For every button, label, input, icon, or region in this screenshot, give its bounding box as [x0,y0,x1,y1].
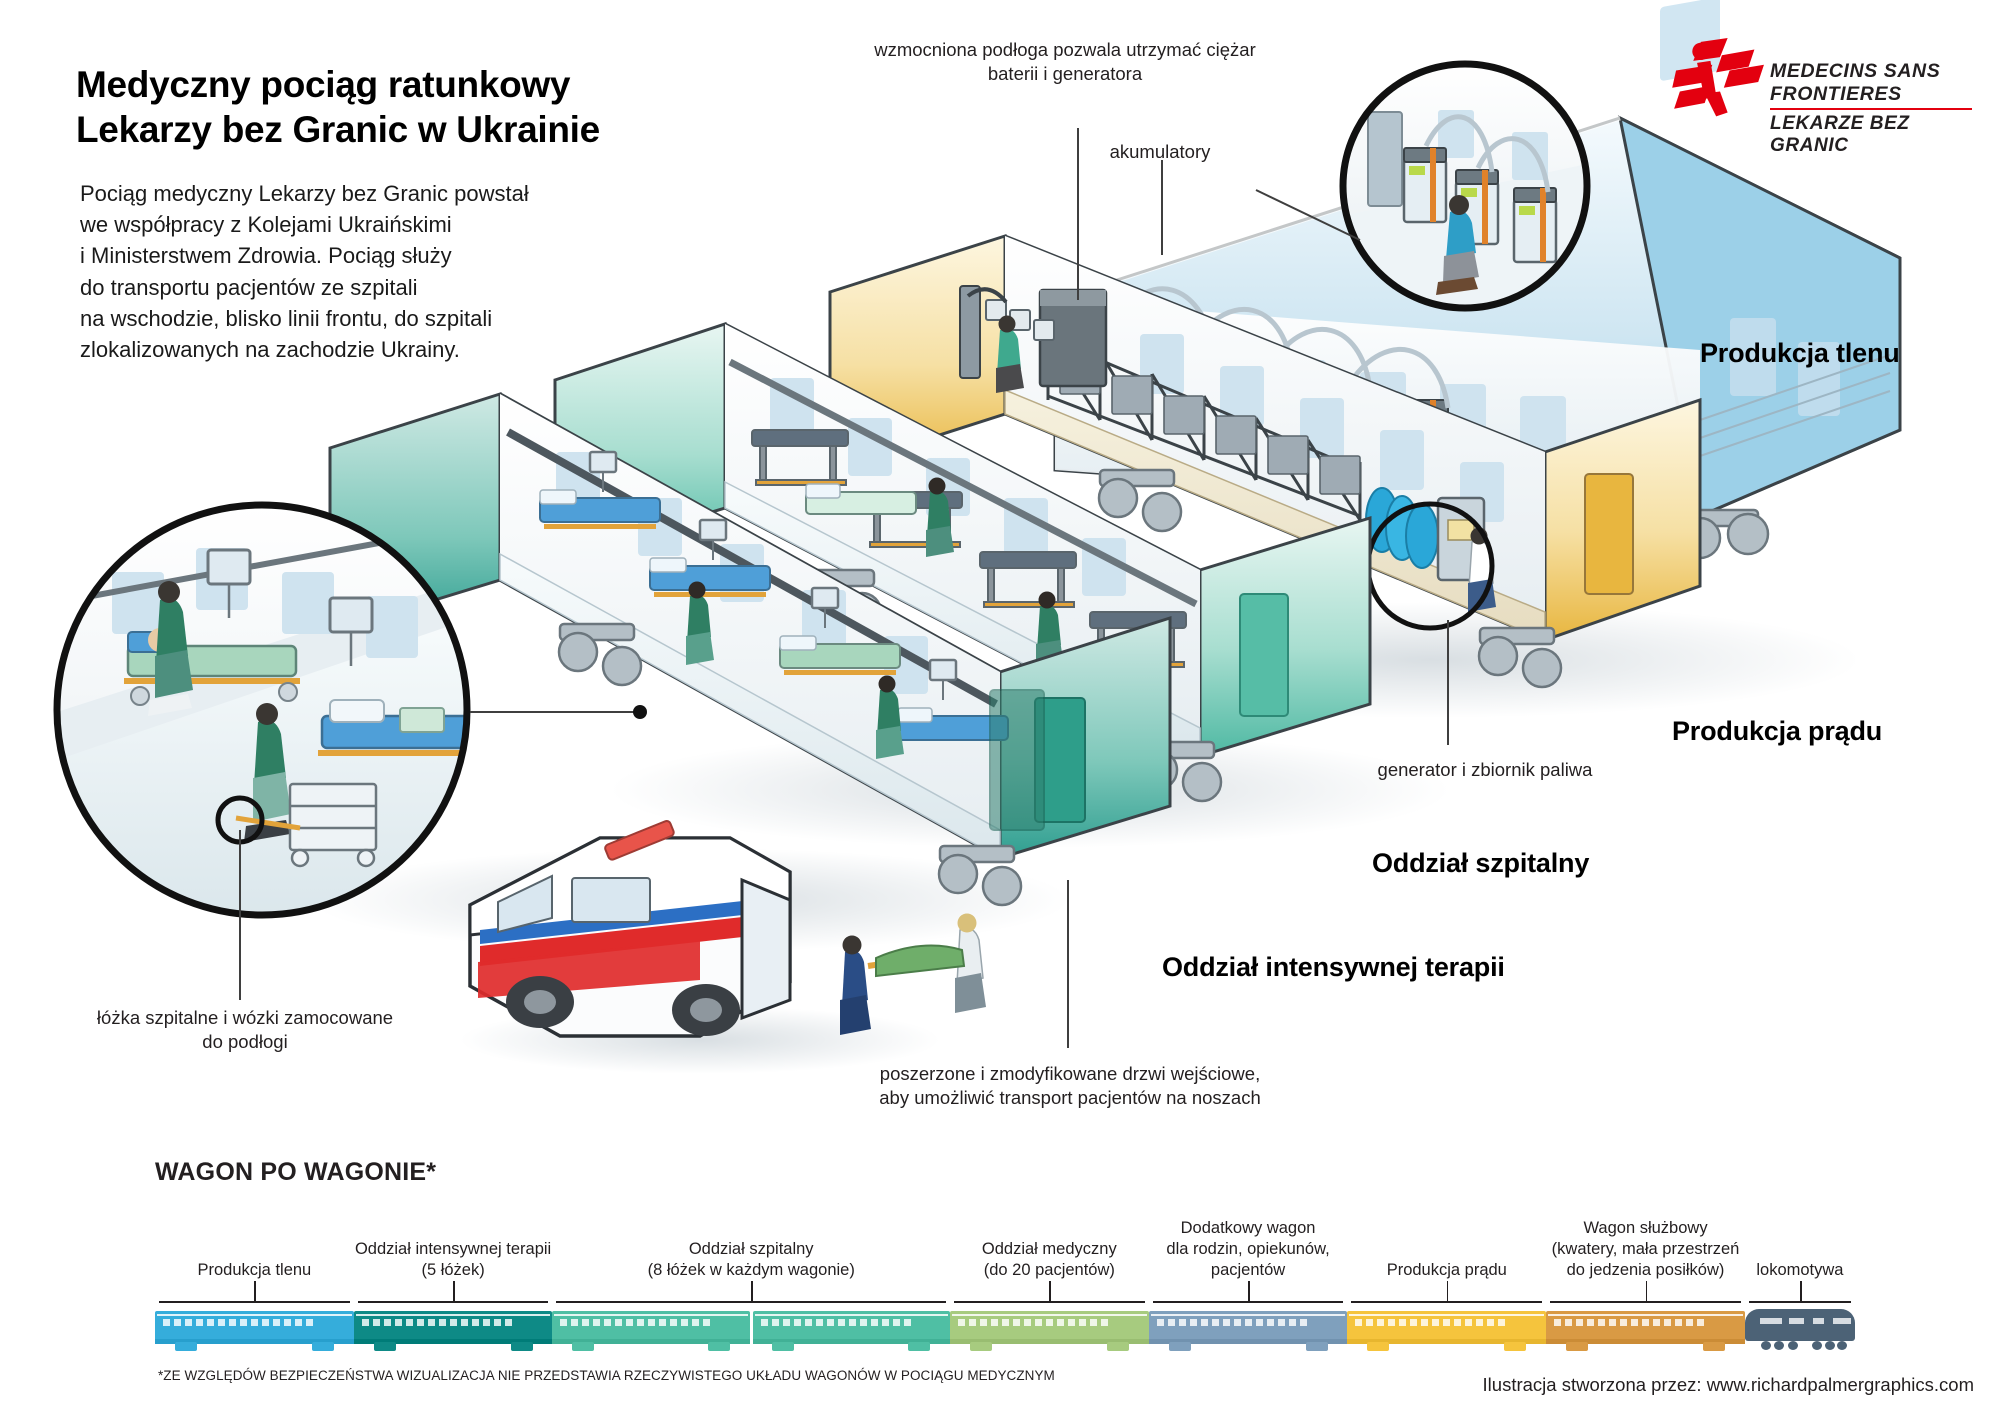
wagon-windows [761,1319,942,1326]
wagon-roofline [1548,1314,1743,1316]
seg-oxygen-cars [155,1305,354,1353]
annotation-reinforced-floor: wzmocniona podłoga pozwala utrzymać cięż… [830,38,1300,86]
seg-medical-bracket [954,1301,1145,1303]
wagon-windows [958,1319,1141,1326]
seg-locomotive-cars [1745,1305,1855,1353]
seg-oxygen-bracket [159,1301,350,1303]
locomotive-window [1833,1318,1851,1324]
wagon-panel: Produkcja tlenuOddział intensywnej terap… [155,1188,1855,1353]
seg-ward-car [753,1305,950,1347]
wagon-windows [362,1319,545,1326]
wagon-windows [560,1319,741,1326]
msf-logo-line1: MEDECINS SANS FRONTIERES [1770,60,1972,110]
wagon-bogie [1504,1342,1526,1351]
infographic-canvas: Medyczny pociąg ratunkowy Lekarzy bez Gr… [0,0,2000,1414]
annotation-fixed-beds: łóżka szpitalne i wózki zamocowane do po… [50,1006,440,1054]
intro-paragraph: Pociąg medyczny Lekarzy bez Granic powst… [80,178,640,365]
wagon-bogie [1703,1342,1725,1351]
seg-locomotive-tick [1800,1281,1802,1301]
label-oxygen-production: Produkcja tlenu [1700,338,1900,369]
wagon-bogie [970,1342,992,1351]
wagon-windows [163,1319,346,1326]
wagon-bogie [511,1342,533,1351]
seg-service-car [1546,1305,1745,1347]
seg-service-tick [1646,1281,1648,1301]
seg-icu-bracket [358,1301,549,1303]
wagon-bogie [1107,1342,1129,1351]
seg-locomotive-car [1745,1305,1855,1347]
page-title: Medyczny pociąg ratunkowy Lekarzy bez Gr… [76,62,696,152]
seg-service-bracket [1550,1301,1741,1303]
seg-power-cars [1347,1305,1546,1353]
annotation-widened-doors: poszerzone i zmodyfikowane drzwi wejścio… [830,1062,1310,1110]
seg-icu: Oddział intensywnej terapii (5 łóżek) [354,1188,553,1353]
wagon-bogie [1566,1342,1588,1351]
seg-oxygen-tick [254,1281,256,1301]
seg-medical-car [950,1305,1149,1347]
seg-icu-tick [453,1281,455,1301]
wagon-bogie [1169,1342,1191,1351]
msf-logo: MEDECINS SANS FRONTIERES LEKARZE BEZ GRA… [1672,34,1972,144]
seg-power-tick [1447,1281,1449,1301]
label-intensive-care: Oddział intensywnej terapii [1162,952,1505,983]
seg-ward-label: Oddział szpitalny (8 łóżek w każdym wago… [586,1239,916,1281]
seg-medical-cars [950,1305,1149,1353]
seg-power-car [1347,1305,1546,1347]
locomotive-window [1760,1318,1782,1324]
wagon-roofline [755,1314,948,1316]
wagon-panel-footnote: *ZE WZGLĘDÓW BEZPIECZEŃSTWA WIZUALIZACJA… [158,1368,1055,1383]
seg-family-bracket [1153,1301,1344,1303]
wagon-roofline [157,1314,352,1316]
credit-line: Ilustracja stworzona przez: www.richardp… [1483,1374,1974,1396]
wagon-segment-row: Produkcja tlenuOddział intensywnej terap… [155,1188,1855,1353]
wagon-bogie [772,1342,794,1351]
locomotive-wheels [1751,1341,1849,1350]
locomotive-window [1789,1318,1804,1324]
seg-service-cars [1546,1305,1745,1353]
seg-icu-cars [354,1305,553,1353]
label-power-production: Produkcja prądu [1672,716,1882,747]
wagon-roofline [1349,1314,1544,1316]
magnifier-oxygen [1343,64,1587,308]
annotation-generator: generator i zbiornik paliwa [1330,758,1640,782]
msf-running-figure-icon [1672,38,1768,124]
seg-locomotive-label: lokomotywa [1635,1260,1965,1281]
seg-medical-tick [1049,1281,1051,1301]
wagon-bogie [572,1342,594,1351]
wagon-bogie [374,1342,396,1351]
wagon-roofline [1151,1314,1346,1316]
seg-ward-bracket [556,1301,945,1303]
wagon-bogie [175,1342,197,1351]
ambulance [470,820,790,1036]
wagon-windows [1355,1319,1538,1326]
wagon-roofline [356,1314,551,1316]
seg-ward-tick [751,1281,753,1301]
seg-locomotive-bracket [1749,1301,1851,1303]
wagon-bogie [1367,1342,1389,1351]
locomotive-body [1745,1309,1855,1341]
locomotive-window [1813,1318,1824,1324]
seg-family-cars [1149,1305,1348,1353]
wagon-windows [1157,1319,1340,1326]
wagon-roofline [952,1314,1147,1316]
seg-family-tick [1248,1281,1250,1301]
seg-icu-car [354,1305,553,1347]
seg-family-car [1149,1305,1348,1347]
seg-ward-cars [552,1305,949,1353]
wagon-panel-title: WAGON PO WAGONIE* [155,1158,436,1187]
seg-oxygen-car [155,1305,354,1347]
wagon-bogie [1306,1342,1328,1351]
annotation-batteries: akumulatory [1035,140,1285,164]
seg-power-bracket [1351,1301,1542,1303]
seg-ward-car [552,1305,749,1347]
wagon-roofline [554,1314,747,1316]
wagon-bogie [708,1342,730,1351]
wagon-bogie [908,1342,930,1351]
wagon-bogie [312,1342,334,1351]
msf-logo-line2: LEKARZE BEZ GRANIC [1770,113,1972,157]
wagon-windows [1554,1319,1737,1326]
seg-locomotive: lokomotywa [1745,1188,1855,1353]
label-hospital-ward: Oddział szpitalny [1372,848,1589,879]
